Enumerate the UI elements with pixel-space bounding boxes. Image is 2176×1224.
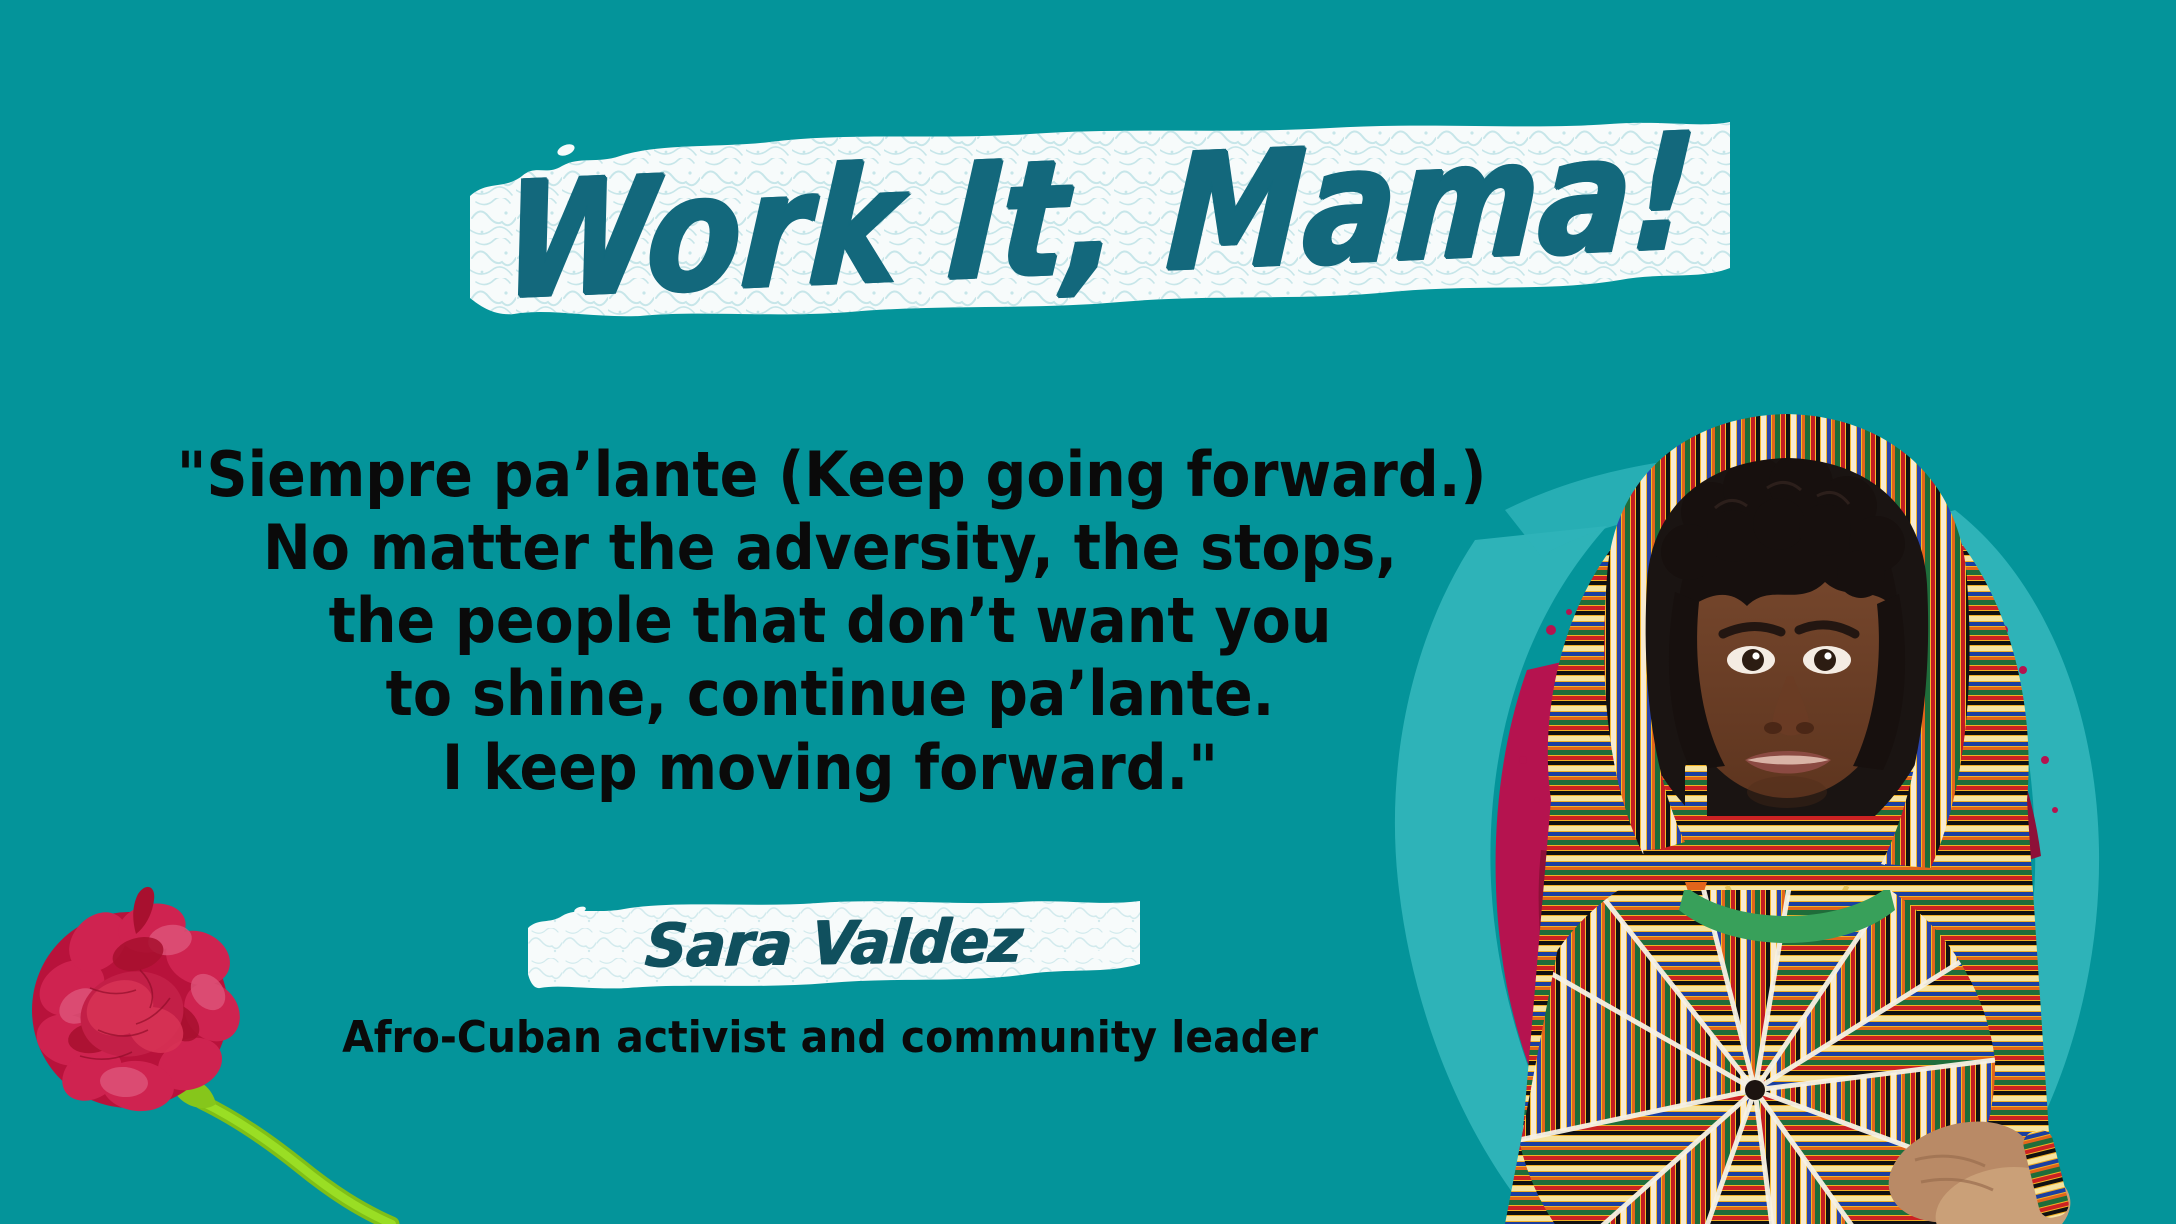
quote-line-1: "Siempre pa’lante (Keep going forward.) bbox=[177, 438, 1483, 511]
attribution-name-label: Sara Valdez bbox=[643, 906, 1024, 981]
attribution-name-banner: Sara Valdez bbox=[528, 898, 1140, 990]
title-brush-banner: Work It, Mama! bbox=[470, 118, 1730, 318]
portrait-face bbox=[1661, 452, 1905, 808]
attribution-name: Sara Valdez bbox=[527, 894, 1140, 995]
quote-block: "Siempre pa’lante (Keep going forward.) … bbox=[177, 438, 1483, 804]
quote-line-5: I keep moving forward." bbox=[177, 731, 1483, 804]
portrait-sara-valdez bbox=[1355, 330, 2176, 1224]
quote-line-3: the people that don’t want you bbox=[177, 584, 1483, 657]
quote-line-2: No matter the adversity, the stops, bbox=[177, 511, 1483, 584]
carnation-flower bbox=[20, 880, 580, 1224]
poster-canvas: Work It, Mama! "Siempre pa’lante (Keep g… bbox=[0, 0, 2176, 1224]
quote-line-4: to shine, continue pa’lante. bbox=[177, 657, 1483, 730]
